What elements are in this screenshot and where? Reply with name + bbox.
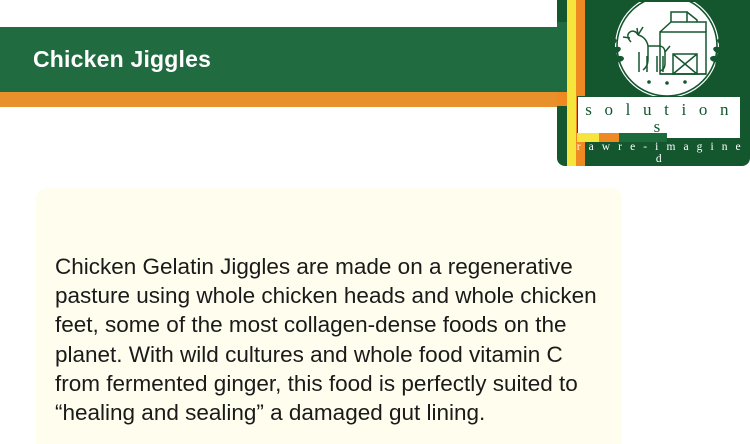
logo-wordmark-text: s o l u t i o n s	[578, 101, 740, 135]
goat-and-barn-badge-icon	[587, 2, 747, 98]
logo-edge-orange-stripe	[557, 92, 567, 106]
logo-tagline-text: r a w r e - i m a g i n e d	[571, 142, 749, 165]
description-card: Chicken Gelatin Jiggles are made on a re…	[36, 188, 622, 444]
page-title: Chicken Jiggles	[33, 48, 211, 71]
brand-logo: s o l u t i o n s PET PRODUCTS r a w r e…	[557, 0, 750, 166]
logo-edge-green-stripe	[557, 22, 567, 92]
description-paragraph: Chicken Gelatin Jiggles are made on a re…	[55, 252, 607, 427]
